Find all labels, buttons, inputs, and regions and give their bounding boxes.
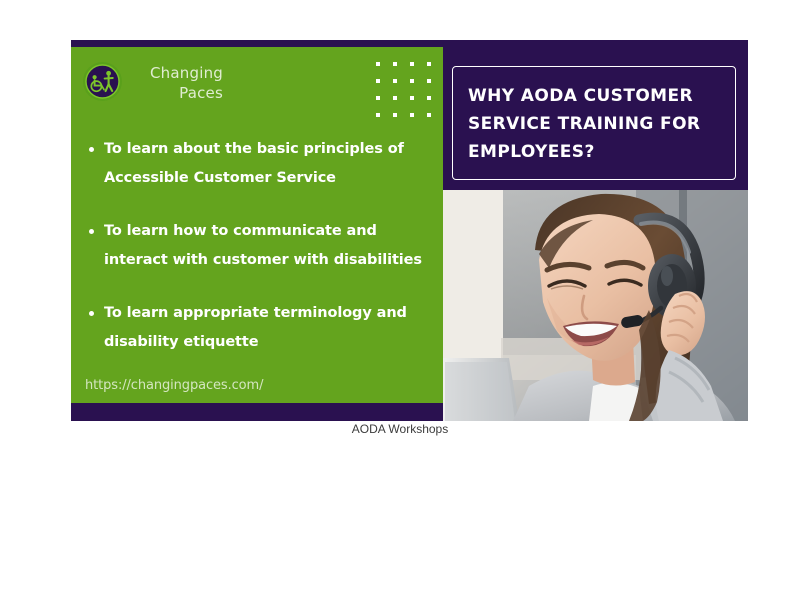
- grid-dot: [376, 79, 380, 83]
- brand-lockup: Changing Paces: [82, 61, 223, 103]
- grid-dot: [410, 96, 414, 100]
- headset-agent-photo: [443, 190, 748, 421]
- screenshot-stage: Changing Paces To learn about the basic …: [0, 0, 800, 600]
- brand-name-line1: Changing: [150, 64, 223, 82]
- grid-dot: [427, 79, 431, 83]
- grid-dot: [393, 96, 397, 100]
- grid-dot: [427, 96, 431, 100]
- grid-dot: [410, 79, 414, 83]
- dot-grid-decoration: [376, 62, 431, 117]
- grid-dot: [410, 62, 414, 66]
- grid-dot: [376, 62, 380, 66]
- accessibility-wheelchair-logo-icon: [82, 61, 123, 102]
- list-item: To learn about the basic principles of A…: [85, 135, 435, 193]
- list-item: To learn how to communicate and interact…: [85, 217, 435, 275]
- brand-name-line2: Paces: [131, 83, 223, 103]
- grid-dot: [427, 62, 431, 66]
- objectives-list: To learn about the basic principles of A…: [85, 135, 435, 357]
- grid-dot: [393, 79, 397, 83]
- page-title: WHY AODA CUSTOMER SERVICE TRAINING FOR E…: [468, 82, 725, 166]
- title-card: WHY AODA CUSTOMER SERVICE TRAINING FOR E…: [452, 66, 736, 180]
- green-content-panel: Changing Paces To learn about the basic …: [71, 47, 443, 403]
- grid-dot: [376, 96, 380, 100]
- grid-dot: [410, 113, 414, 117]
- website-url[interactable]: https://changingpaces.com/: [85, 377, 263, 394]
- grid-dot: [427, 113, 431, 117]
- image-caption: AODA Workshops: [0, 421, 800, 437]
- brand-name: Changing Paces: [131, 63, 223, 103]
- grid-dot: [393, 113, 397, 117]
- grid-dot: [376, 113, 380, 117]
- list-item: To learn appropriate terminology and dis…: [85, 299, 435, 357]
- grid-dot: [393, 62, 397, 66]
